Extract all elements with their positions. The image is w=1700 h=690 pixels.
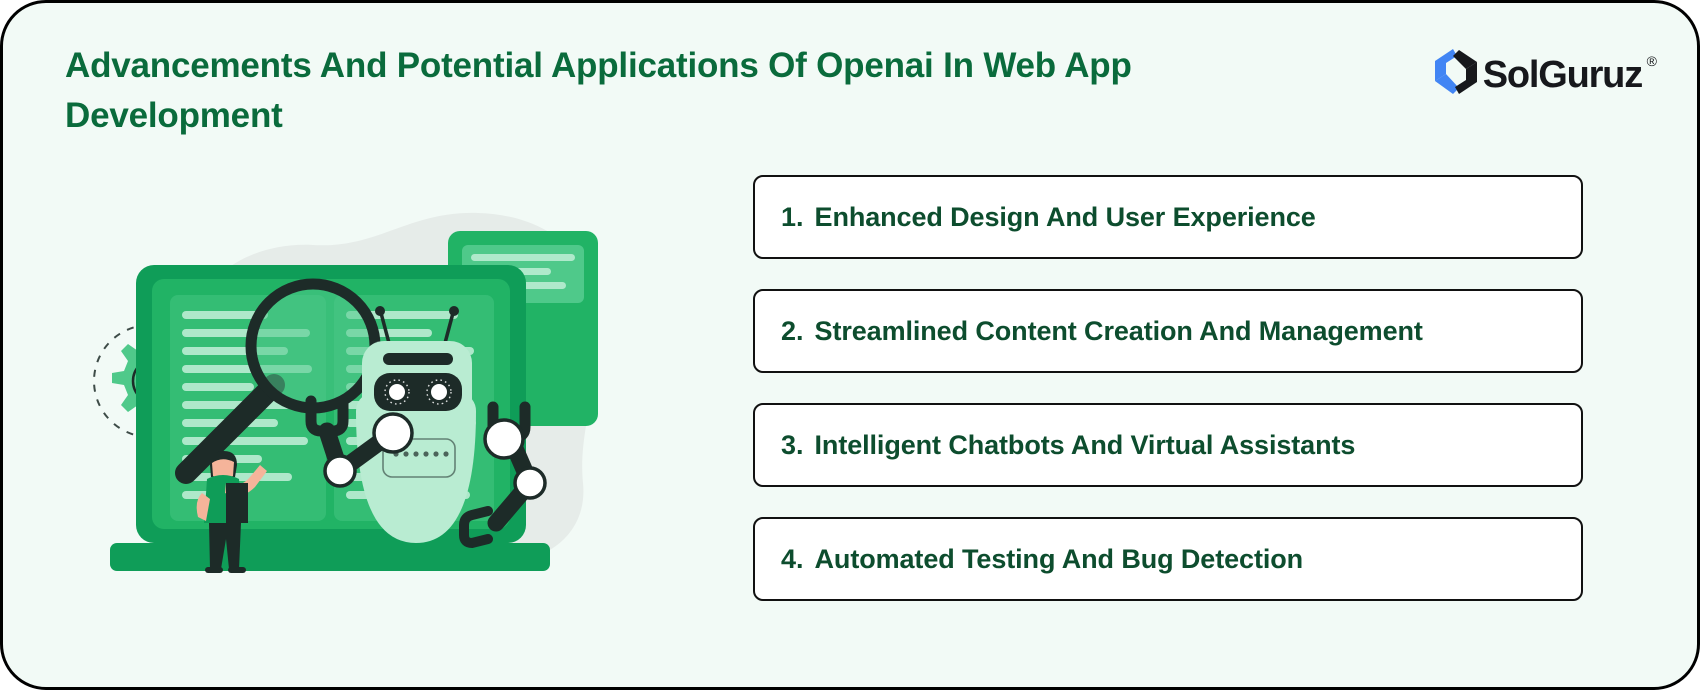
page-title: Advancements And Potential Applications … [65,41,1305,140]
brand-logo: SolGuruz® [1433,47,1642,102]
list-item-label: Streamlined Content Creation And Managem… [815,316,1423,347]
list-item-number: 1. [781,202,804,233]
list-item[interactable]: 3. Intelligent Chatbots And Virtual Assi… [753,403,1583,487]
list-item-number: 3. [781,430,804,461]
brand-name-text: SolGuruz [1483,54,1642,96]
list-item-label: Automated Testing And Bug Detection [815,544,1304,575]
list-item[interactable]: 1. Enhanced Design And User Experience [753,175,1583,259]
brand-name: SolGuruz® [1483,56,1642,94]
list-item-number: 2. [781,316,804,347]
list-item-number: 4. [781,544,804,575]
list-item[interactable]: 2. Streamlined Content Creation And Mana… [753,289,1583,373]
advancements-list: 1. Enhanced Design And User Experience 2… [753,175,1583,601]
infographic-card: Advancements And Potential Applications … [0,0,1700,690]
registered-trademark-icon: ® [1647,54,1657,68]
header: Advancements And Potential Applications … [65,41,1642,140]
list-item-label: Intelligent Chatbots And Virtual Assista… [815,430,1356,461]
body: 1. Enhanced Design And User Experience 2… [3,163,1697,687]
ai-code-review-robot-illustration [78,183,658,603]
list-item-label: Enhanced Design And User Experience [815,202,1316,233]
list-item[interactable]: 4. Automated Testing And Bug Detection [753,517,1583,601]
solguruz-hex-s-logo-icon [1433,47,1479,102]
